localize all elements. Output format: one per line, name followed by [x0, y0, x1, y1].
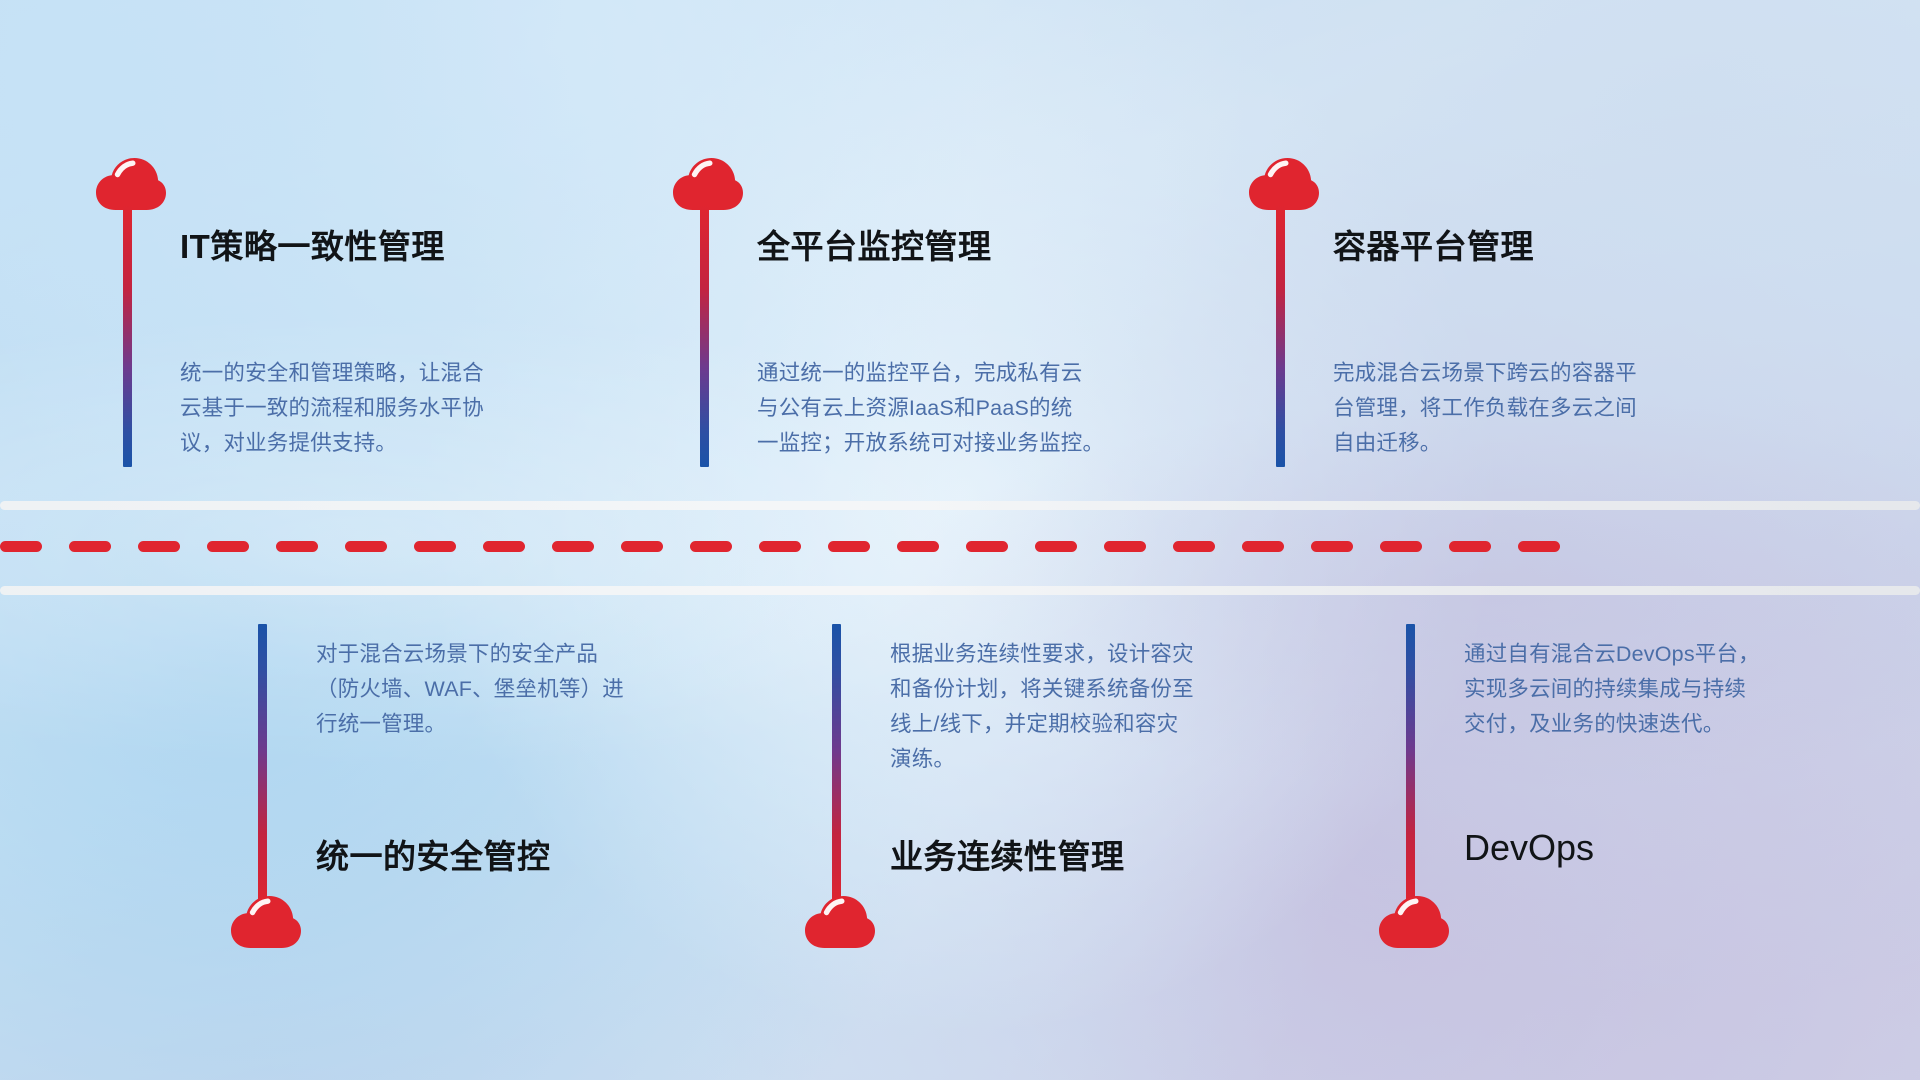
body-line: 一监控；开放系统可对接业务监控。 — [757, 426, 1104, 461]
card-body: 对于混合云场景下的安全产品 （防火墙、WAF、堡垒机等）进 行统一管理。 — [316, 637, 624, 742]
divider-dash — [690, 541, 732, 552]
body-line: 线上/线下，并定期校验和容灾 — [890, 707, 1194, 742]
divider-dash — [414, 541, 456, 552]
stem-line — [258, 624, 267, 908]
body-line: 与公有云上资源IaaS和PaaS的统 — [757, 391, 1104, 426]
divider-dash — [552, 541, 594, 552]
divider-dash — [69, 541, 111, 552]
divider-dash — [1035, 541, 1077, 552]
divider-dash — [1311, 541, 1353, 552]
body-line: 通过自有混合云DevOps平台， — [1464, 637, 1760, 672]
divider-rail-bottom — [0, 586, 1920, 595]
divider-dashed-line — [0, 541, 1920, 552]
divider-dash — [621, 541, 663, 552]
card-body: 通过自有混合云DevOps平台， 实现多云间的持续集成与持续 交付，及业务的快速… — [1464, 637, 1760, 742]
body-line: 对于混合云场景下的安全产品 — [316, 637, 624, 672]
card-heading: 容器平台管理 — [1333, 220, 1534, 268]
card-heading: 业务连续性管理 — [890, 830, 1125, 878]
card-heading: IT策略一致性管理 — [180, 220, 445, 268]
stem-line — [832, 624, 841, 908]
stem-line — [1406, 624, 1415, 908]
divider-dash — [138, 541, 180, 552]
body-line: 演练。 — [890, 742, 1194, 777]
divider-dash — [345, 541, 387, 552]
card-body: 统一的安全和管理策略，让混合 云基于一致的流程和服务水平协 议，对业务提供支持。 — [180, 356, 484, 461]
divider-dash — [759, 541, 801, 552]
body-line: 行统一管理。 — [316, 707, 624, 742]
body-line: 自由迁移。 — [1333, 426, 1637, 461]
body-line: 交付，及业务的快速迭代。 — [1464, 707, 1760, 742]
divider-dash — [1449, 541, 1491, 552]
card-heading: DevOps — [1464, 827, 1594, 869]
body-line: 和备份计划，将关键系统备份至 — [890, 672, 1194, 707]
divider-dash — [1242, 541, 1284, 552]
divider-dash — [966, 541, 1008, 552]
body-line: 根据业务连续性要求，设计容灾 — [890, 637, 1194, 672]
body-line: 台管理，将工作负载在多云之间 — [1333, 391, 1637, 426]
divider-dash — [276, 541, 318, 552]
card-body: 完成混合云场景下跨云的容器平 台管理，将工作负载在多云之间 自由迁移。 — [1333, 356, 1637, 461]
stem-line — [1276, 205, 1285, 467]
divider-dash — [1518, 541, 1560, 552]
divider-dash — [207, 541, 249, 552]
divider-dash — [483, 541, 525, 552]
center-divider — [0, 488, 1920, 598]
divider-dash — [1380, 541, 1422, 552]
divider-dash — [0, 541, 42, 552]
body-line: 完成混合云场景下跨云的容器平 — [1333, 356, 1637, 391]
card-body: 通过统一的监控平台，完成私有云 与公有云上资源IaaS和PaaS的统 一监控；开… — [757, 356, 1104, 461]
card-heading: 全平台监控管理 — [757, 220, 992, 268]
body-line: （防火墙、WAF、堡垒机等）进 — [316, 672, 624, 707]
body-line: 云基于一致的流程和服务水平协 — [180, 391, 484, 426]
divider-rail-top — [0, 501, 1920, 510]
body-line: 通过统一的监控平台，完成私有云 — [757, 356, 1104, 391]
divider-dash — [828, 541, 870, 552]
body-line: 议，对业务提供支持。 — [180, 426, 484, 461]
divider-dash — [897, 541, 939, 552]
body-line: 实现多云间的持续集成与持续 — [1464, 672, 1760, 707]
card-heading: 统一的安全管控 — [316, 830, 551, 878]
divider-dash — [1173, 541, 1215, 552]
body-line: 统一的安全和管理策略，让混合 — [180, 356, 484, 391]
card-body: 根据业务连续性要求，设计容灾 和备份计划，将关键系统备份至 线上/线下，并定期校… — [890, 637, 1194, 777]
divider-dash — [1104, 541, 1146, 552]
stem-line — [123, 205, 132, 467]
stem-line — [700, 205, 709, 467]
